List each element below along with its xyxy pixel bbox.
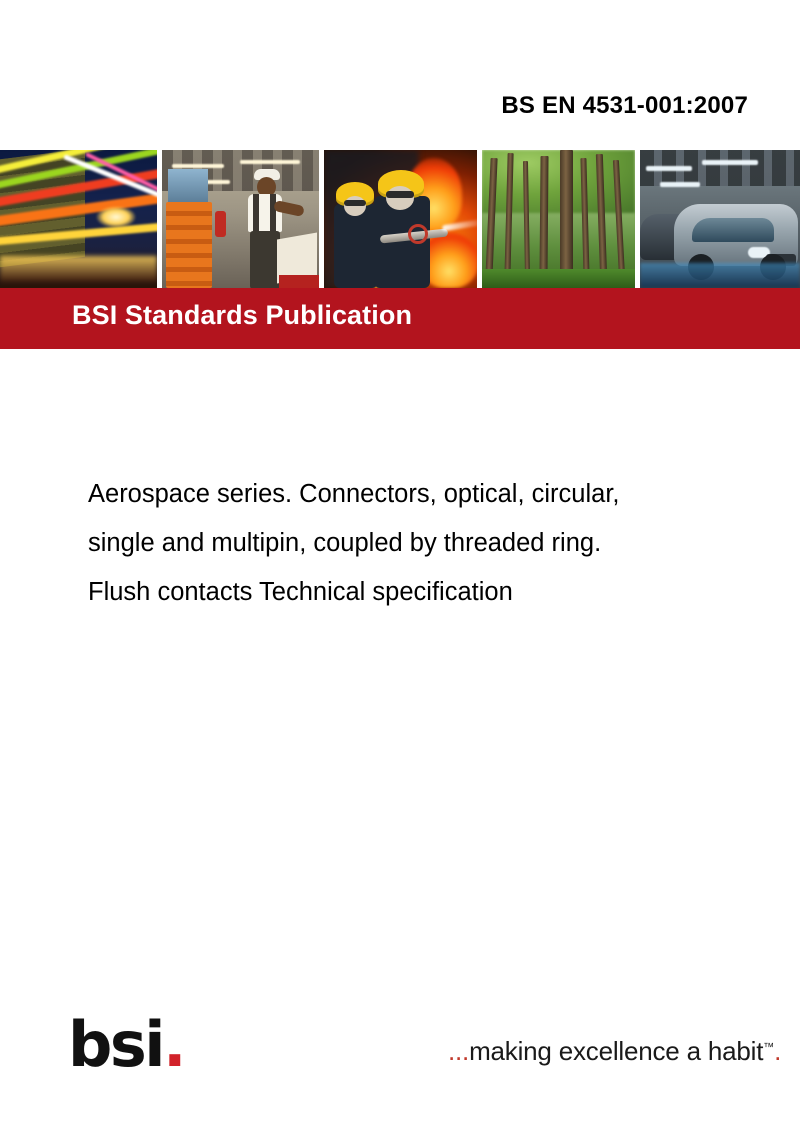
- apron-strap: [270, 194, 276, 232]
- tree-trunk: [539, 155, 548, 278]
- forest-floor: [482, 269, 635, 288]
- tree-trunk: [560, 150, 573, 278]
- road-glow: [0, 256, 157, 282]
- hose-nozzle: [408, 224, 428, 244]
- photo-panel-car-assembly-line: [640, 150, 800, 288]
- visor: [386, 191, 414, 198]
- headlight-flare: [96, 206, 136, 228]
- windscreen: [692, 218, 774, 242]
- overhead-lamp: [646, 166, 692, 171]
- firefighter-face: [344, 196, 366, 216]
- ceiling-light: [172, 164, 224, 168]
- dark-trousers: [250, 231, 280, 288]
- blue-crate: [168, 169, 208, 202]
- apron-strap: [253, 194, 259, 232]
- bsi-standards-publication-banner: BSI Standards Publication: [0, 288, 800, 349]
- tree-canopy: [482, 150, 635, 213]
- tagline-end-dot: .: [774, 1036, 781, 1066]
- photo-panel-forest: [482, 150, 635, 288]
- photo-panel-warehouse-worker: [162, 150, 319, 288]
- tagline-leading-ellipsis: ...: [448, 1036, 469, 1066]
- page-title-line-3: Flush contacts Technical specification: [88, 568, 778, 617]
- background-worker: [215, 211, 226, 237]
- firefighter-body-rear: [334, 204, 378, 288]
- photo-panel-night-light-trails: [0, 150, 157, 288]
- red-bin: [279, 275, 319, 288]
- bsi-logo: bsi.: [68, 1014, 184, 1076]
- blue-floor-glow: [640, 263, 800, 288]
- bsi-logo-dot: .: [163, 1008, 184, 1081]
- page-title-line-2: single and multipin, coupled by threaded…: [88, 519, 778, 568]
- visor: [344, 200, 366, 206]
- bsi-logo-wordmark: bsi: [68, 1008, 163, 1081]
- bsi-tagline: ...making excellence a habit™.: [448, 1036, 781, 1067]
- firefighter-face: [386, 186, 414, 210]
- overhead-lamp: [660, 182, 700, 187]
- page-title: Aerospace series. Connectors, optical, c…: [88, 470, 778, 617]
- ceiling-light: [240, 160, 300, 164]
- tagline-text: making excellence a habit: [469, 1036, 763, 1066]
- cover-photo-strip: [0, 150, 800, 288]
- banner-label: BSI Standards Publication: [72, 300, 412, 331]
- page-title-line-1: Aerospace series. Connectors, optical, c…: [88, 470, 778, 519]
- photo-panel-firefighters: [324, 150, 477, 288]
- standard-number: BS EN 4531-001:2007: [501, 92, 748, 120]
- overhead-lamp: [702, 160, 758, 165]
- orange-crate-stack: [166, 202, 212, 288]
- trademark-icon: ™: [763, 1041, 774, 1053]
